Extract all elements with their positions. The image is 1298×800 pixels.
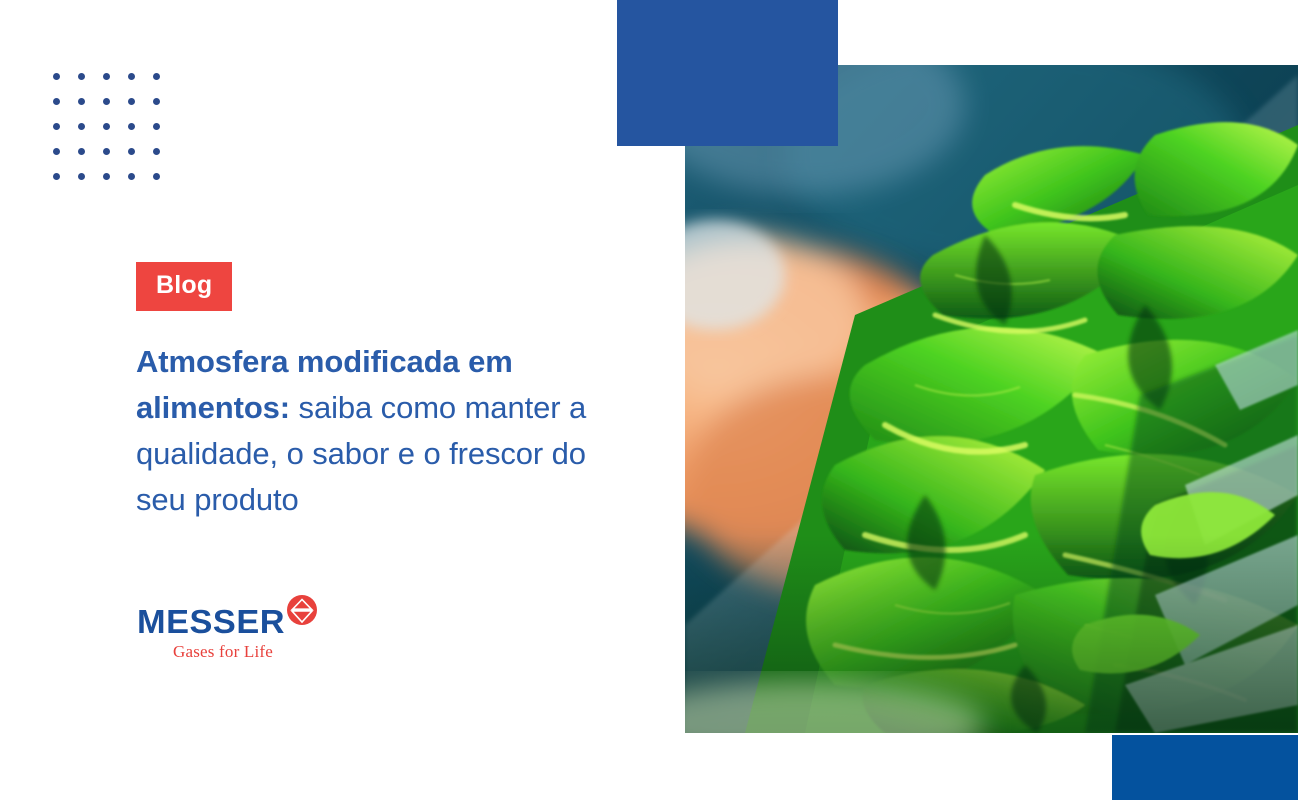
grid-dot: [128, 123, 135, 130]
grid-dot: [128, 173, 135, 180]
grid-dot: [78, 148, 85, 155]
grid-dot: [53, 148, 60, 155]
grid-dot: [103, 173, 110, 180]
messer-triangle-circle-mark: [285, 593, 319, 632]
grid-dot: [103, 73, 110, 80]
grid-dot: [103, 148, 110, 155]
grid-dot: [153, 148, 160, 155]
messer-logo[interactable]: MESSER Gases for Life: [137, 605, 317, 660]
grid-dot: [78, 73, 85, 80]
grid-dot: [53, 123, 60, 130]
category-badge[interactable]: Blog: [136, 262, 232, 311]
grid-dot: [103, 123, 110, 130]
grid-dot: [78, 98, 85, 105]
grid-dot: [153, 173, 160, 180]
grid-dot: [53, 98, 60, 105]
page-title: Atmosfera modificada em alimentos: saiba…: [136, 339, 641, 523]
text-column: Blog Atmosfera modificada em alimentos: …: [136, 262, 641, 523]
grid-dot: [128, 148, 135, 155]
grid-dot: [153, 123, 160, 130]
grid-dot: [128, 73, 135, 80]
logo-wordmark: MESSER: [137, 605, 285, 638]
logo-tagline: Gases for Life: [173, 643, 317, 660]
grid-dot: [53, 173, 60, 180]
blue-bar-bottom: [1112, 735, 1298, 800]
dot-grid: [44, 64, 169, 189]
blog-banner: Blog Atmosfera modificada em alimentos: …: [0, 0, 1298, 800]
spinach-photo-illustration: [685, 65, 1298, 733]
grid-dot: [78, 123, 85, 130]
grid-dot: [153, 73, 160, 80]
logo-row: MESSER: [137, 605, 317, 638]
grid-dot: [103, 98, 110, 105]
grid-dot: [153, 98, 160, 105]
logo-mark-svg: [285, 593, 319, 627]
blue-square-top: [617, 0, 838, 146]
grid-dot: [78, 173, 85, 180]
grid-dot: [53, 73, 60, 80]
hero-photo: [685, 65, 1298, 733]
grid-dot: [128, 98, 135, 105]
